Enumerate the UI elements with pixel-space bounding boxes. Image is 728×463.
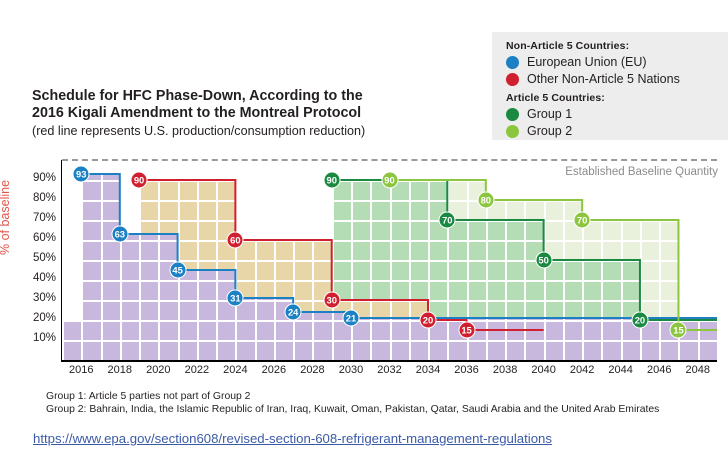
x-tick-label: 2022 bbox=[185, 364, 209, 376]
plot-area: 93634531242190603020159070502090807015 bbox=[62, 160, 717, 360]
y-tick-label: 40% bbox=[16, 272, 56, 284]
x-tick-label: 2032 bbox=[377, 364, 401, 376]
x-tick-label: 2040 bbox=[531, 364, 555, 376]
x-tick-label: 2044 bbox=[608, 364, 632, 376]
x-tick-label: 2018 bbox=[108, 364, 132, 376]
data-point-marker: 24 bbox=[285, 304, 302, 321]
data-point-marker: 70 bbox=[574, 212, 591, 229]
legend-dot-icon-group1 bbox=[506, 108, 519, 121]
x-tick-label: 2020 bbox=[146, 364, 170, 376]
chart-title-line-1: Schedule for HFC Phase-Down, According t… bbox=[32, 88, 452, 105]
data-point-marker: 45 bbox=[169, 262, 186, 279]
data-point-marker: 60 bbox=[227, 232, 244, 249]
legend-item-group-1: Group 1 bbox=[506, 106, 728, 123]
x-tick-label: 2026 bbox=[262, 364, 286, 376]
y-tick-label: 70% bbox=[16, 212, 56, 224]
legend-label-group2: Group 2 bbox=[527, 125, 572, 138]
legend-heading-article-5: Article 5 Countries: bbox=[506, 92, 728, 104]
data-point-marker: 90 bbox=[323, 172, 340, 189]
footnotes: Group 1: Article 5 parties not part of G… bbox=[46, 390, 726, 416]
x-axis-line bbox=[61, 360, 717, 362]
data-point-marker: 80 bbox=[477, 192, 494, 209]
data-point-marker: 20 bbox=[631, 312, 648, 329]
chart-title-line-2: 2016 Kigali Amendment to the Montreal Pr… bbox=[32, 105, 452, 122]
baseline-label: Established Baseline Quantity bbox=[565, 166, 718, 178]
y-tick-label: 50% bbox=[16, 252, 56, 264]
x-tick-label: 2016 bbox=[69, 364, 93, 376]
data-point-marker: 15 bbox=[458, 322, 475, 339]
legend-label-eu: European Union (EU) bbox=[527, 56, 647, 69]
y-axis-tick-labels: 10%20%30%40%50%60%70%80%90% bbox=[12, 160, 56, 360]
data-point-marker: 30 bbox=[323, 292, 340, 309]
y-tick-label: 10% bbox=[16, 332, 56, 344]
data-point-marker: 15 bbox=[670, 322, 687, 339]
baseline-reference-line bbox=[62, 159, 717, 161]
x-tick-label: 2024 bbox=[223, 364, 247, 376]
data-point-marker: 63 bbox=[111, 226, 128, 243]
legend-item-eu: European Union (EU) bbox=[506, 54, 728, 71]
y-tick-label: 90% bbox=[16, 172, 56, 184]
legend-label-group1: Group 1 bbox=[527, 108, 572, 121]
legend: Non-Article 5 Countries: European Union … bbox=[492, 32, 728, 140]
series-line-1 bbox=[81, 174, 717, 318]
x-tick-label: 2042 bbox=[570, 364, 594, 376]
x-tick-label: 2048 bbox=[685, 364, 709, 376]
chart-title-block: Schedule for HFC Phase-Down, According t… bbox=[32, 88, 452, 140]
legend-label-other: Other Non-Article 5 Nations bbox=[527, 73, 680, 86]
source-url-link[interactable]: https://www.epa.gov/section608/revised-s… bbox=[33, 431, 552, 446]
y-tick-label: 30% bbox=[16, 292, 56, 304]
data-point-marker: 90 bbox=[381, 172, 398, 189]
legend-dot-icon-group2 bbox=[506, 125, 519, 138]
x-tick-label: 2028 bbox=[300, 364, 324, 376]
y-tick-label: 20% bbox=[16, 312, 56, 324]
footnote-group-1: Group 1: Article 5 parties not part of G… bbox=[46, 390, 726, 403]
y-tick-label: 80% bbox=[16, 192, 56, 204]
chart-subtitle: (red line represents U.S. production/con… bbox=[32, 123, 452, 140]
series-line-4 bbox=[390, 180, 718, 330]
y-axis-title: % of baseline bbox=[0, 180, 12, 255]
legend-heading-non-article-5: Non-Article 5 Countries: bbox=[506, 40, 728, 52]
x-tick-label: 2046 bbox=[647, 364, 671, 376]
y-tick-label: 60% bbox=[16, 232, 56, 244]
data-point-marker: 70 bbox=[439, 212, 456, 229]
plot-canvas: 93634531242190603020159070502090807015 bbox=[62, 160, 717, 360]
x-axis-tick-labels: 2016201820202022202420262028203020322034… bbox=[62, 364, 717, 380]
data-point-marker: 50 bbox=[535, 252, 552, 269]
x-tick-label: 2036 bbox=[454, 364, 478, 376]
data-point-marker: 21 bbox=[342, 310, 359, 327]
footnote-group-2: Group 2: Bahrain, India, the Islamic Rep… bbox=[46, 403, 726, 416]
series-lines bbox=[62, 160, 717, 360]
legend-dot-icon-other bbox=[506, 73, 519, 86]
legend-item-other-non-article-5: Other Non-Article 5 Nations bbox=[506, 71, 728, 88]
data-point-marker: 20 bbox=[420, 312, 437, 329]
x-tick-label: 2034 bbox=[416, 364, 440, 376]
legend-dot-icon-eu bbox=[506, 56, 519, 69]
data-point-marker: 93 bbox=[73, 166, 90, 183]
legend-item-group-2: Group 2 bbox=[506, 123, 728, 140]
x-tick-label: 2030 bbox=[339, 364, 363, 376]
x-tick-label: 2038 bbox=[493, 364, 517, 376]
data-point-marker: 31 bbox=[227, 290, 244, 307]
data-point-marker: 90 bbox=[131, 172, 148, 189]
